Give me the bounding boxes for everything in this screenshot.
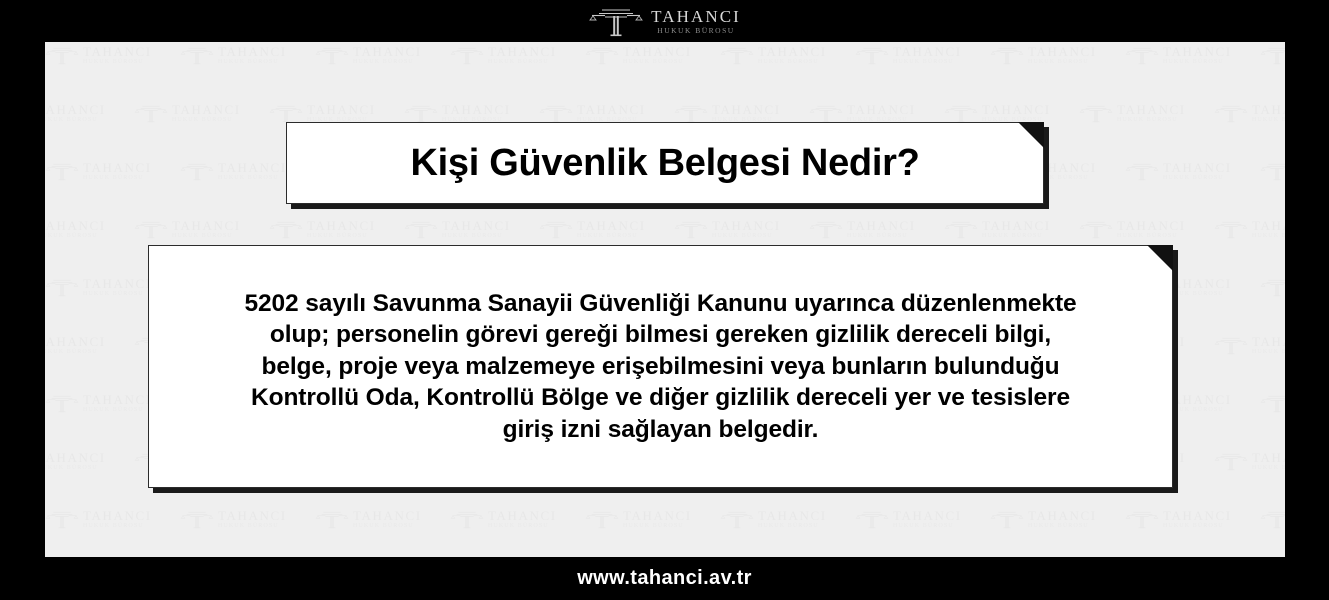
watermark-name: TAHANCI (45, 451, 106, 464)
watermark-wordmark: TAHANCI HUKUK BÜROSU (1028, 45, 1097, 66)
watermark-wordmark: TAHANCI HUKUK BÜROSU (353, 509, 422, 530)
watermark-wordmark: TAHANCI HUKUK BÜROSU (172, 103, 241, 124)
brand-wordmark: TAHANCI HUKUK BÜROSU (651, 8, 741, 35)
watermark-tile: TAHANCI HUKUK BÜROSU (1125, 158, 1232, 184)
watermark-pillar-scales-icon (1214, 216, 1248, 242)
watermark-name: TAHANCI (982, 103, 1051, 116)
watermark-pillar-scales-icon (45, 158, 79, 184)
watermark-wordmark: TAHANCI HUKUK BÜROSU (758, 45, 827, 66)
watermark-wordmark: TAHANCI HUKUK BÜROSU (577, 103, 646, 124)
brand-lockup: TAHANCI HUKUK BÜROSU (588, 5, 741, 37)
watermark-tile: TAHANCI HUKUK BÜROSU (180, 42, 287, 68)
watermark-name: TAHANCI (307, 219, 376, 232)
watermark-wordmark: TAHANCI HUKUK BÜROSU (847, 219, 916, 240)
watermark-pillar-scales-icon (269, 216, 303, 242)
watermark-name: TAHANCI (758, 45, 827, 58)
watermark-name: TAHANCI (218, 161, 287, 174)
watermark-name: TAHANCI (83, 45, 152, 58)
watermark-tile: TAHANCI HUKUK BÜROSU (1214, 216, 1285, 242)
watermark-name: TAHANCI (982, 219, 1051, 232)
watermark-tile: TAHANCI HUKUK BÜROSU (944, 216, 1051, 242)
watermark-pillar-scales-icon (1079, 100, 1113, 126)
watermark-tile: TAHANCI HUKUK BÜROSU (404, 216, 511, 242)
watermark-subtitle: HUKUK BÜROSU (488, 59, 557, 65)
watermark-name: TAHANCI (1252, 219, 1285, 232)
watermark-subtitle: HUKUK BÜROSU (45, 465, 106, 471)
watermark-subtitle: HUKUK BÜROSU (1163, 291, 1232, 297)
title-callout-card: Kişi Güvenlik Belgesi Nedir? (286, 122, 1044, 204)
watermark-wordmark: TAHANCI HUKUK BÜROSU (218, 161, 287, 182)
watermark-subtitle: HUKUK BÜROSU (1028, 59, 1097, 65)
watermark-pillar-scales-icon (1260, 158, 1285, 184)
watermark-subtitle: HUKUK BÜROSU (758, 59, 827, 65)
watermark-tile: TAHANCI HUKUK BÜROSU (450, 506, 557, 532)
watermark-tile: TAHANCI HUKUK BÜROSU (45, 216, 106, 242)
watermark-subtitle: HUKUK BÜROSU (307, 233, 376, 239)
body-line: belge, proje veya malzemeye erişebilmesi… (244, 351, 1076, 383)
watermark-name: TAHANCI (353, 45, 422, 58)
watermark-name: TAHANCI (488, 509, 557, 522)
watermark-name: TAHANCI (1163, 161, 1232, 174)
watermark-pillar-scales-icon (944, 216, 978, 242)
watermark-name: TAHANCI (577, 219, 646, 232)
watermark-tile: TAHANCI HUKUK BÜROSU (1214, 100, 1285, 126)
watermark-name: TAHANCI (623, 509, 692, 522)
watermark-wordmark: TAHANCI HUKUK BÜROSU (1163, 509, 1232, 530)
watermark-pillar-scales-icon (450, 42, 484, 68)
watermark-wordmark: TAHANCI HUKUK BÜROSU (1117, 103, 1186, 124)
watermark-name: TAHANCI (1163, 509, 1232, 522)
watermark-tile: TAHANCI HUKUK BÜROSU (45, 390, 152, 416)
watermark-name: TAHANCI (83, 509, 152, 522)
watermark-pillar-scales-icon (674, 216, 708, 242)
watermark-name: TAHANCI (1117, 219, 1186, 232)
body-callout-card: 5202 sayılı Savunma Sanayii Güvenliği Ka… (148, 245, 1173, 488)
watermark-pillar-scales-icon (404, 216, 438, 242)
watermark-wordmark: TAHANCI HUKUK BÜROSU (83, 277, 152, 298)
poster-root: TAHANCI HUKUK BÜROSU TAHANCI HUKUK BÜROS… (0, 0, 1329, 600)
watermark-wordmark: TAHANCI HUKUK BÜROSU (1028, 509, 1097, 530)
watermark-name: TAHANCI (1163, 277, 1232, 290)
watermark-tile: TAHANCI HUKUK BÜROSU (134, 100, 241, 126)
watermark-wordmark: TAHANCI HUKUK BÜROSU (172, 219, 241, 240)
watermark-pillar-scales-icon (855, 506, 889, 532)
body-line: olup; personelin görevi gereği bilmesi g… (244, 319, 1076, 351)
watermark-pillar-scales-icon (180, 42, 214, 68)
watermark-pillar-scales-icon (45, 42, 79, 68)
watermark-tile: TAHANCI HUKUK BÜROSU (1260, 158, 1285, 184)
watermark-pillar-scales-icon (45, 390, 79, 416)
watermark-pillar-scales-icon (1260, 390, 1285, 416)
watermark-name: TAHANCI (893, 509, 962, 522)
watermark-name: TAHANCI (45, 335, 106, 348)
watermark-pillar-scales-icon (134, 100, 168, 126)
watermark-wordmark: TAHANCI HUKUK BÜROSU (353, 45, 422, 66)
watermark-pillar-scales-icon (1260, 274, 1285, 300)
watermark-tile: TAHANCI HUKUK BÜROSU (45, 158, 152, 184)
watermark-name: TAHANCI (712, 103, 781, 116)
brand-header: TAHANCI HUKUK BÜROSU (0, 0, 1329, 42)
watermark-name: TAHANCI (623, 45, 692, 58)
watermark-tile: TAHANCI HUKUK BÜROSU (1260, 42, 1285, 68)
watermark-name: TAHANCI (353, 509, 422, 522)
watermark-tile: TAHANCI HUKUK BÜROSU (674, 216, 781, 242)
watermark-wordmark: TAHANCI HUKUK BÜROSU (1163, 393, 1232, 414)
watermark-tile: TAHANCI HUKUK BÜROSU (1214, 448, 1285, 474)
watermark-subtitle: HUKUK BÜROSU (218, 175, 287, 181)
watermark-name: TAHANCI (1117, 103, 1186, 116)
watermark-name: TAHANCI (1163, 393, 1232, 406)
watermark-subtitle: HUKUK BÜROSU (847, 233, 916, 239)
watermark-subtitle: HUKUK BÜROSU (1163, 175, 1232, 181)
watermark-subtitle: HUKUK BÜROSU (1163, 523, 1232, 529)
watermark-pillar-scales-icon (45, 274, 79, 300)
watermark-wordmark: TAHANCI HUKUK BÜROSU (758, 509, 827, 530)
watermark-tile: TAHANCI HUKUK BÜROSU (315, 42, 422, 68)
watermark-pillar-scales-icon (809, 216, 843, 242)
watermark-tile: TAHANCI HUKUK BÜROSU (720, 42, 827, 68)
watermark-wordmark: TAHANCI HUKUK BÜROSU (623, 509, 692, 530)
watermark-tile: TAHANCI HUKUK BÜROSU (269, 216, 376, 242)
watermark-tile: TAHANCI HUKUK BÜROSU (1260, 390, 1285, 416)
watermark-tile: TAHANCI HUKUK BÜROSU (1260, 506, 1285, 532)
watermark-tile: TAHANCI HUKUK BÜROSU (585, 42, 692, 68)
watermark-pillar-scales-icon (1214, 332, 1248, 358)
watermark-name: TAHANCI (172, 103, 241, 116)
brand-subtitle: HUKUK BÜROSU (657, 27, 734, 35)
watermark-tile: TAHANCI HUKUK BÜROSU (180, 506, 287, 532)
watermark-tile: TAHANCI HUKUK BÜROSU (180, 158, 287, 184)
watermark-pillar-scales-icon (990, 42, 1024, 68)
watermark-wordmark: TAHANCI HUKUK BÜROSU (893, 45, 962, 66)
watermark-subtitle: HUKUK BÜROSU (1163, 407, 1232, 413)
watermark-tile: TAHANCI HUKUK BÜROSU (539, 216, 646, 242)
watermark-subtitle: HUKUK BÜROSU (83, 291, 152, 297)
watermark-tile: TAHANCI HUKUK BÜROSU (1125, 42, 1232, 68)
watermark-name: TAHANCI (577, 103, 646, 116)
watermark-name: TAHANCI (1252, 103, 1285, 116)
watermark-pillar-scales-icon (1125, 158, 1159, 184)
watermark-tile: TAHANCI HUKUK BÜROSU (855, 42, 962, 68)
watermark-wordmark: TAHANCI HUKUK BÜROSU (1252, 451, 1285, 472)
watermark-subtitle: HUKUK BÜROSU (1028, 523, 1097, 529)
watermark-wordmark: TAHANCI HUKUK BÜROSU (83, 161, 152, 182)
watermark-subtitle: HUKUK BÜROSU (712, 233, 781, 239)
watermark-subtitle: HUKUK BÜROSU (758, 523, 827, 529)
watermark-tile: TAHANCI HUKUK BÜROSU (315, 506, 422, 532)
watermark-wordmark: TAHANCI HUKUK BÜROSU (218, 45, 287, 66)
watermark-subtitle: HUKUK BÜROSU (172, 117, 241, 123)
watermark-wordmark: TAHANCI HUKUK BÜROSU (83, 393, 152, 414)
watermark-wordmark: TAHANCI HUKUK BÜROSU (1252, 335, 1285, 356)
watermark-name: TAHANCI (83, 393, 152, 406)
watermark-wordmark: TAHANCI HUKUK BÜROSU (488, 45, 557, 66)
watermark-wordmark: TAHANCI HUKUK BÜROSU (577, 219, 646, 240)
watermark-subtitle: HUKUK BÜROSU (577, 233, 646, 239)
watermark-tile: TAHANCI HUKUK BÜROSU (45, 448, 106, 474)
watermark-subtitle: HUKUK BÜROSU (1252, 349, 1285, 355)
watermark-subtitle: HUKUK BÜROSU (45, 233, 106, 239)
watermark-pillar-scales-icon (720, 506, 754, 532)
watermark-subtitle: HUKUK BÜROSU (893, 523, 962, 529)
corner-notch-icon (1147, 245, 1173, 271)
corner-notch-icon (1018, 122, 1044, 148)
body-paragraph: 5202 sayılı Savunma Sanayii Güvenliği Ka… (210, 288, 1110, 446)
brand-name: TAHANCI (651, 8, 741, 25)
watermark-tile: TAHANCI HUKUK BÜROSU (1260, 274, 1285, 300)
watermark-tile: TAHANCI HUKUK BÜROSU (720, 506, 827, 532)
watermark-wordmark: TAHANCI HUKUK BÜROSU (982, 103, 1051, 124)
watermark-tile: TAHANCI HUKUK BÜROSU (45, 506, 152, 532)
watermark-name: TAHANCI (847, 103, 916, 116)
watermark-name: TAHANCI (1252, 335, 1285, 348)
watermark-subtitle: HUKUK BÜROSU (1252, 233, 1285, 239)
content-canvas: TAHANCI HUKUK BÜROSU TAHANCI HUKUK BÜROS… (45, 42, 1285, 557)
watermark-wordmark: TAHANCI HUKUK BÜROSU (45, 451, 106, 472)
watermark-tile: TAHANCI HUKUK BÜROSU (45, 100, 106, 126)
watermark-wordmark: TAHANCI HUKUK BÜROSU (83, 45, 152, 66)
page-title: Kişi Güvenlik Belgesi Nedir? (381, 142, 950, 185)
watermark-tile: TAHANCI HUKUK BÜROSU (990, 42, 1097, 68)
watermark-subtitle: HUKUK BÜROSU (218, 59, 287, 65)
body-line: giriş izni sağlayan belgedir. (244, 414, 1076, 446)
watermark-tile: TAHANCI HUKUK BÜROSU (809, 216, 916, 242)
watermark-pillar-scales-icon (45, 506, 79, 532)
watermark-name: TAHANCI (893, 45, 962, 58)
watermark-subtitle: HUKUK BÜROSU (172, 233, 241, 239)
website-url[interactable]: www.tahanci.av.tr (577, 567, 752, 590)
watermark-pillar-scales-icon (134, 216, 168, 242)
watermark-pillar-scales-icon (1079, 216, 1113, 242)
watermark-tile: TAHANCI HUKUK BÜROSU (1079, 216, 1186, 242)
watermark-subtitle: HUKUK BÜROSU (45, 117, 106, 123)
watermark-wordmark: TAHANCI HUKUK BÜROSU (83, 509, 152, 530)
watermark-subtitle: HUKUK BÜROSU (1117, 233, 1186, 239)
watermark-subtitle: HUKUK BÜROSU (83, 175, 152, 181)
watermark-subtitle: HUKUK BÜROSU (623, 523, 692, 529)
watermark-pillar-scales-icon (315, 42, 349, 68)
watermark-tile: TAHANCI HUKUK BÜROSU (1125, 506, 1232, 532)
watermark-wordmark: TAHANCI HUKUK BÜROSU (45, 219, 106, 240)
watermark-subtitle: HUKUK BÜROSU (83, 59, 152, 65)
footer-bar: www.tahanci.av.tr (0, 557, 1329, 600)
watermark-wordmark: TAHANCI HUKUK BÜROSU (1252, 219, 1285, 240)
watermark-wordmark: TAHANCI HUKUK BÜROSU (893, 509, 962, 530)
watermark-tile: TAHANCI HUKUK BÜROSU (1214, 332, 1285, 358)
watermark-wordmark: TAHANCI HUKUK BÜROSU (847, 103, 916, 124)
watermark-pillar-scales-icon (720, 42, 754, 68)
watermark-subtitle: HUKUK BÜROSU (45, 349, 106, 355)
pillar-scales-icon (588, 5, 644, 37)
watermark-pillar-scales-icon (180, 506, 214, 532)
watermark-pillar-scales-icon (539, 216, 573, 242)
watermark-wordmark: TAHANCI HUKUK BÜROSU (982, 219, 1051, 240)
watermark-wordmark: TAHANCI HUKUK BÜROSU (218, 509, 287, 530)
watermark-pillar-scales-icon (1125, 42, 1159, 68)
watermark-wordmark: TAHANCI HUKUK BÜROSU (1117, 219, 1186, 240)
watermark-wordmark: TAHANCI HUKUK BÜROSU (488, 509, 557, 530)
watermark-pillar-scales-icon (315, 506, 349, 532)
watermark-tile: TAHANCI HUKUK BÜROSU (134, 216, 241, 242)
watermark-pillar-scales-icon (585, 506, 619, 532)
watermark-subtitle: HUKUK BÜROSU (1252, 117, 1285, 123)
watermark-tile: TAHANCI HUKUK BÜROSU (45, 332, 106, 358)
watermark-name: TAHANCI (45, 103, 106, 116)
watermark-wordmark: TAHANCI HUKUK BÜROSU (712, 103, 781, 124)
watermark-name: TAHANCI (442, 103, 511, 116)
watermark-subtitle: HUKUK BÜROSU (83, 407, 152, 413)
watermark-name: TAHANCI (442, 219, 511, 232)
watermark-wordmark: TAHANCI HUKUK BÜROSU (45, 103, 106, 124)
watermark-tile: TAHANCI HUKUK BÜROSU (45, 42, 152, 68)
watermark-tile: TAHANCI HUKUK BÜROSU (450, 42, 557, 68)
watermark-tile: TAHANCI HUKUK BÜROSU (45, 274, 152, 300)
watermark-subtitle: HUKUK BÜROSU (1252, 465, 1285, 471)
watermark-pillar-scales-icon (1214, 100, 1248, 126)
watermark-subtitle: HUKUK BÜROSU (83, 523, 152, 529)
watermark-subtitle: HUKUK BÜROSU (1163, 59, 1232, 65)
body-line: 5202 sayılı Savunma Sanayii Güvenliği Ka… (244, 288, 1076, 320)
watermark-name: TAHANCI (83, 277, 152, 290)
watermark-pillar-scales-icon (1214, 448, 1248, 474)
watermark-name: TAHANCI (172, 219, 241, 232)
watermark-name: TAHANCI (45, 219, 106, 232)
watermark-wordmark: TAHANCI HUKUK BÜROSU (307, 103, 376, 124)
watermark-tile: TAHANCI HUKUK BÜROSU (990, 506, 1097, 532)
watermark-subtitle: HUKUK BÜROSU (442, 233, 511, 239)
watermark-wordmark: TAHANCI HUKUK BÜROSU (307, 219, 376, 240)
watermark-wordmark: TAHANCI HUKUK BÜROSU (1163, 277, 1232, 298)
watermark-name: TAHANCI (83, 161, 152, 174)
watermark-name: TAHANCI (488, 45, 557, 58)
watermark-subtitle: HUKUK BÜROSU (1117, 117, 1186, 123)
watermark-wordmark: TAHANCI HUKUK BÜROSU (712, 219, 781, 240)
watermark-pillar-scales-icon (1125, 506, 1159, 532)
watermark-wordmark: TAHANCI HUKUK BÜROSU (1252, 103, 1285, 124)
watermark-name: TAHANCI (847, 219, 916, 232)
watermark-name: TAHANCI (218, 509, 287, 522)
watermark-pillar-scales-icon (855, 42, 889, 68)
watermark-pillar-scales-icon (1260, 42, 1285, 68)
watermark-subtitle: HUKUK BÜROSU (353, 59, 422, 65)
watermark-pillar-scales-icon (1260, 506, 1285, 532)
watermark-tile: TAHANCI HUKUK BÜROSU (585, 506, 692, 532)
watermark-pillar-scales-icon (585, 42, 619, 68)
watermark-pillar-scales-icon (180, 158, 214, 184)
watermark-wordmark: TAHANCI HUKUK BÜROSU (45, 335, 106, 356)
watermark-tile: TAHANCI HUKUK BÜROSU (1079, 100, 1186, 126)
watermark-tile: TAHANCI HUKUK BÜROSU (855, 506, 962, 532)
watermark-name: TAHANCI (712, 219, 781, 232)
body-line: Kontrollü Oda, Kontrollü Bölge ve diğer … (244, 382, 1076, 414)
watermark-subtitle: HUKUK BÜROSU (353, 523, 422, 529)
watermark-wordmark: TAHANCI HUKUK BÜROSU (442, 103, 511, 124)
watermark-name: TAHANCI (758, 509, 827, 522)
watermark-name: TAHANCI (307, 103, 376, 116)
watermark-wordmark: TAHANCI HUKUK BÜROSU (1163, 45, 1232, 66)
watermark-subtitle: HUKUK BÜROSU (893, 59, 962, 65)
watermark-subtitle: HUKUK BÜROSU (982, 233, 1051, 239)
watermark-subtitle: HUKUK BÜROSU (218, 523, 287, 529)
watermark-wordmark: TAHANCI HUKUK BÜROSU (623, 45, 692, 66)
watermark-subtitle: HUKUK BÜROSU (623, 59, 692, 65)
watermark-name: TAHANCI (1028, 45, 1097, 58)
watermark-name: TAHANCI (218, 45, 287, 58)
watermark-pillar-scales-icon (990, 506, 1024, 532)
watermark-name: TAHANCI (1163, 45, 1232, 58)
watermark-name: TAHANCI (1028, 509, 1097, 522)
watermark-pillar-scales-icon (450, 506, 484, 532)
watermark-subtitle: HUKUK BÜROSU (488, 523, 557, 529)
watermark-wordmark: TAHANCI HUKUK BÜROSU (1163, 161, 1232, 182)
watermark-wordmark: TAHANCI HUKUK BÜROSU (442, 219, 511, 240)
watermark-name: TAHANCI (1252, 451, 1285, 464)
